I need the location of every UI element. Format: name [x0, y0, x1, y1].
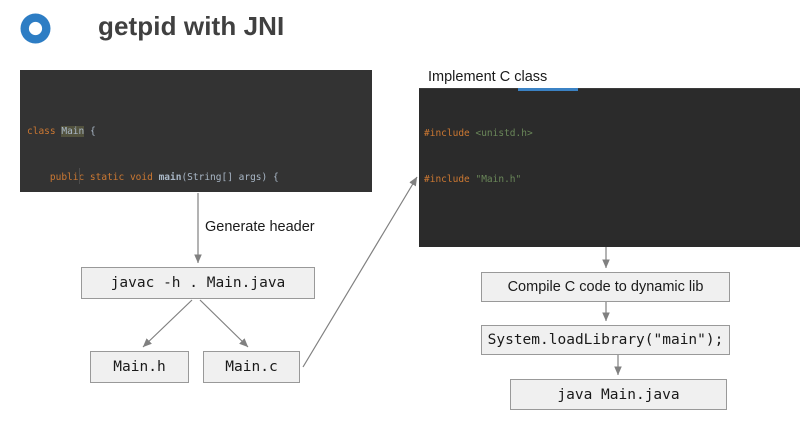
page-title: getpid with JNI	[98, 11, 284, 42]
slide-canvas: getpid with JNI class Main { public stat…	[0, 0, 800, 431]
circle-ring-logo-icon	[19, 12, 52, 45]
box-compile-dynamic-lib[interactable]: Compile C code to dynamic lib	[481, 272, 730, 302]
box-load-library[interactable]: System.loadLibrary("main");	[481, 325, 730, 355]
java-code-block: class Main { public static void main(Str…	[20, 70, 372, 192]
java-code-line: class Main {	[27, 124, 372, 139]
box-main-c-file[interactable]: Main.c	[203, 351, 300, 383]
box-java-main-run[interactable]: java Main.java	[510, 379, 727, 410]
implement-c-class-label: Implement C class	[428, 69, 547, 85]
c-code-block: #include <unistd.h> #include "Main.h" JN…	[419, 88, 800, 247]
generate-header-label: Generate header	[205, 219, 315, 235]
c-code-line: #include "Main.h"	[424, 172, 800, 187]
box-main-h-file[interactable]: Main.h	[90, 351, 189, 383]
code-indent-guide	[79, 168, 80, 184]
c-code-line: #include <unistd.h>	[424, 126, 800, 141]
c-code-accent-bar	[518, 88, 578, 91]
c-code-line	[424, 218, 800, 233]
box-javac-command[interactable]: javac -h . Main.java	[81, 267, 315, 299]
